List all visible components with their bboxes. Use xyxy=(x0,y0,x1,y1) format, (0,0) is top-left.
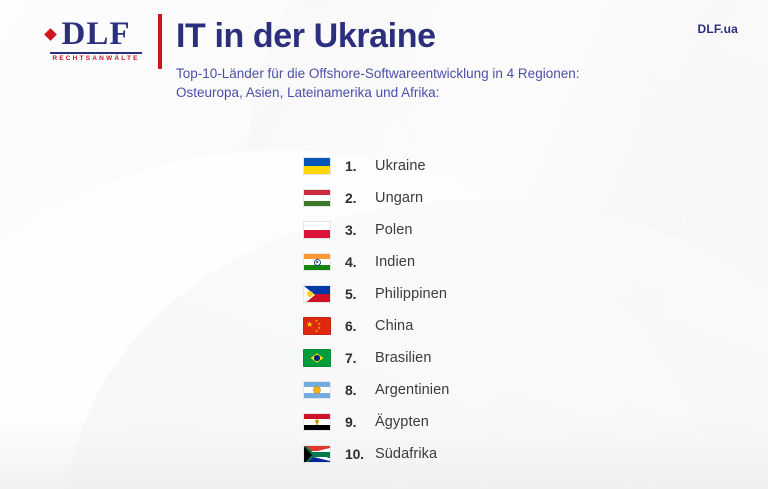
red-diamond-icon xyxy=(44,28,57,41)
rank-number: 7. xyxy=(345,350,375,366)
list-item: 9. Ägypten xyxy=(0,406,768,438)
list-item: 7. Brasilien xyxy=(0,342,768,374)
logo-subtext: RECHTSANWÄLTE xyxy=(47,55,145,62)
flag-southafrica-icon xyxy=(303,445,331,463)
rank-number: 5. xyxy=(345,286,375,302)
flag-egypt-icon xyxy=(303,413,331,431)
subtitle-line-1: Top-10-Länder für die Offshore-Softwaree… xyxy=(176,64,579,83)
rank-number: 8. xyxy=(345,382,375,398)
country-name: Ungarn xyxy=(375,190,423,206)
brand-url: DLF.ua xyxy=(697,22,738,36)
rank-number: 1. xyxy=(345,158,375,174)
infographic-canvas: DLF RECHTSANWÄLTE IT in der Ukraine Top-… xyxy=(0,0,768,489)
dlf-logo: DLF RECHTSANWÄLTE xyxy=(47,17,145,62)
list-item: 4. Indien xyxy=(0,246,768,278)
list-item: 10. Südafrika xyxy=(0,438,768,470)
country-ranking-list: 1. Ukraine 2. Ungarn 3. Polen xyxy=(0,150,768,470)
flag-india-icon xyxy=(303,253,331,271)
rank-number: 3. xyxy=(345,222,375,238)
flag-argentina-icon xyxy=(303,381,331,399)
flag-china-icon: ★ ★ ★ ★ ★ xyxy=(303,317,331,335)
country-name: Ukraine xyxy=(375,158,426,174)
list-item: 2. Ungarn xyxy=(0,182,768,214)
country-name: Brasilien xyxy=(375,350,432,366)
flag-philippines-icon xyxy=(303,285,331,303)
page-title: IT in der Ukraine xyxy=(176,16,436,56)
rank-number: 10. xyxy=(345,446,375,462)
flag-ukraine-icon xyxy=(303,157,331,175)
country-name: Polen xyxy=(375,222,413,238)
sun-of-may-icon xyxy=(314,387,320,393)
list-item: ★ ★ ★ ★ ★ 6. China xyxy=(0,310,768,342)
logo-wordmark: DLF xyxy=(47,17,145,51)
logo-divider xyxy=(50,52,142,54)
title-divider-bar xyxy=(158,14,162,69)
country-name: Argentinien xyxy=(375,382,449,398)
rank-number: 2. xyxy=(345,190,375,206)
rank-number: 6. xyxy=(345,318,375,334)
rank-number: 9. xyxy=(345,414,375,430)
ashoka-chakra-icon xyxy=(314,259,321,266)
list-item: 5. Philippinen xyxy=(0,278,768,310)
country-name: Südafrika xyxy=(375,446,437,462)
country-name: Ägypten xyxy=(375,414,429,430)
subtitle-line-2: Osteuropa, Asien, Lateinamerika und Afri… xyxy=(176,83,579,102)
flag-poland-icon xyxy=(303,221,331,239)
header: DLF RECHTSANWÄLTE IT in der Ukraine Top-… xyxy=(0,0,768,112)
rank-number: 4. xyxy=(345,254,375,270)
logo-main-text: DLF xyxy=(62,16,131,52)
page-subtitle: Top-10-Länder für die Offshore-Softwaree… xyxy=(176,64,579,102)
country-name: China xyxy=(375,318,413,334)
flag-brazil-icon xyxy=(303,349,331,367)
country-name: Indien xyxy=(375,254,415,270)
flag-hungary-icon xyxy=(303,189,331,207)
list-item: 3. Polen xyxy=(0,214,768,246)
country-name: Philippinen xyxy=(375,286,447,302)
list-item: 8. Argentinien xyxy=(0,374,768,406)
list-item: 1. Ukraine xyxy=(0,150,768,182)
